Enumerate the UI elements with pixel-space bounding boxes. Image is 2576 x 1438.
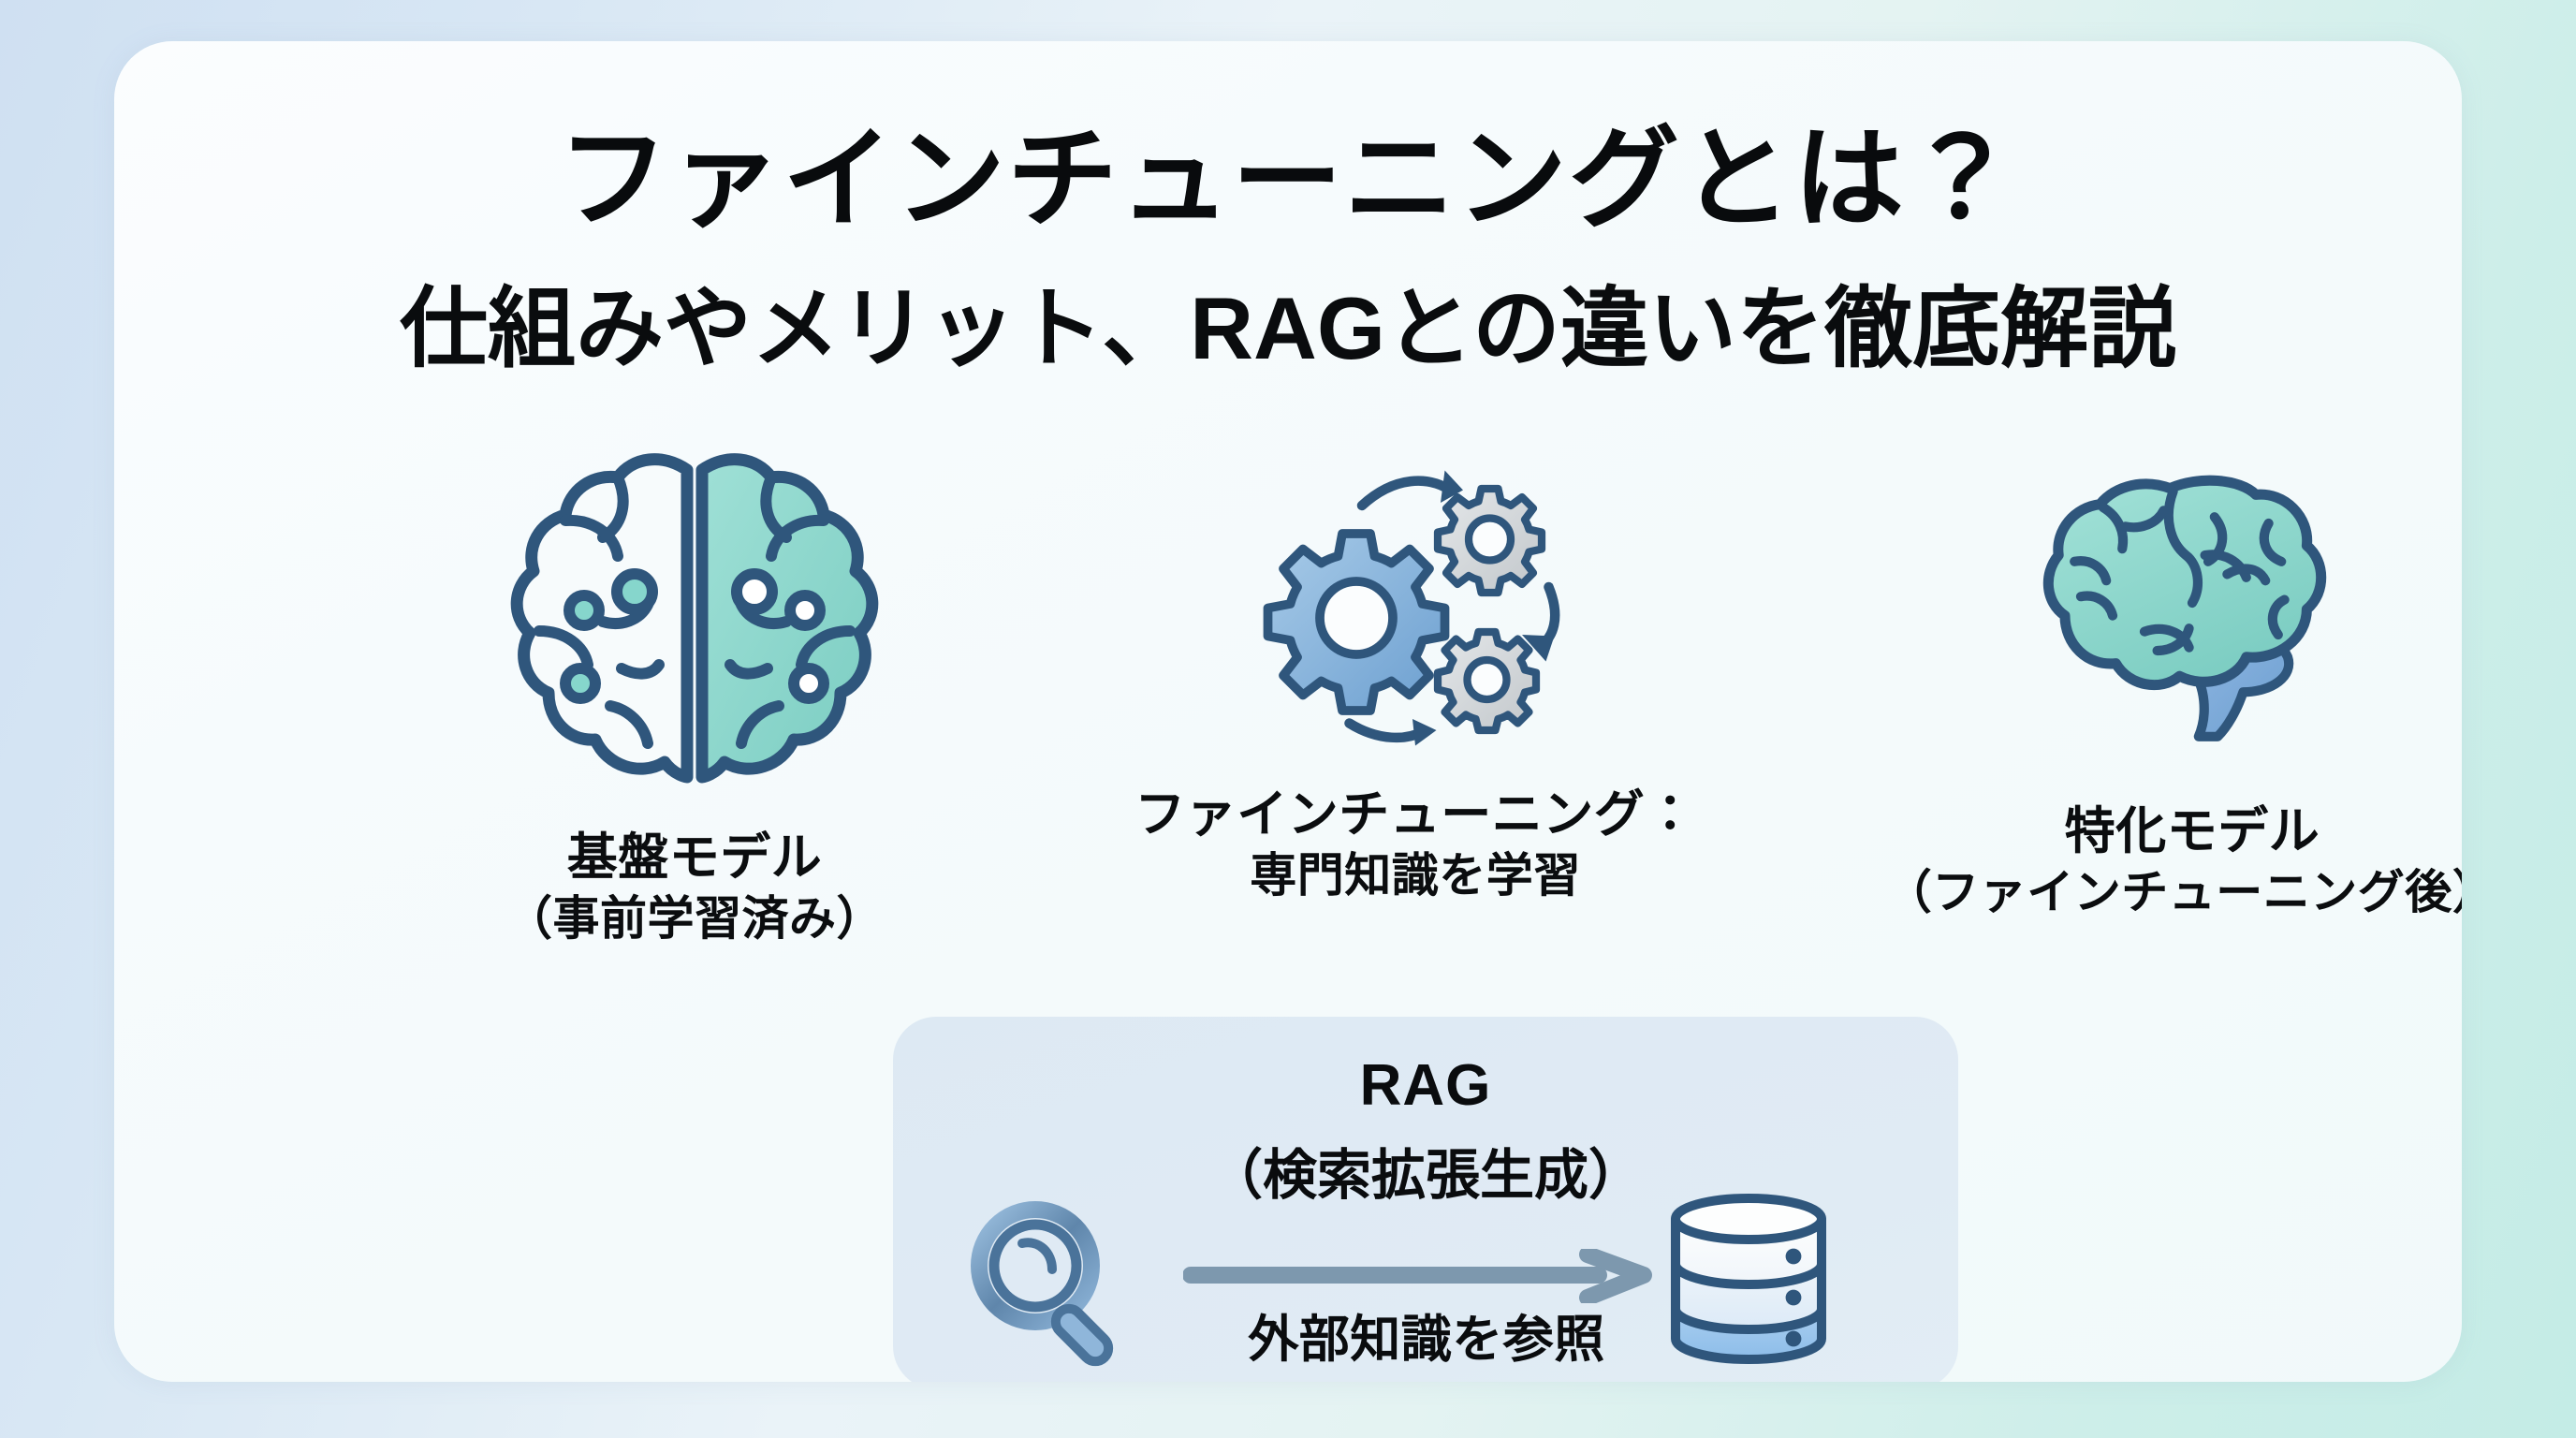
flow-node-base-model: 基盤モデル （事前学習済み） [395,444,994,947]
page-subtitle: 仕組みやメリット、RAGとの違いを徹底解説 [114,283,2462,375]
flow-node-label: ファインチューニング： [1060,784,1771,846]
flow-node-sublabel: 専門知識を学習 [1060,846,1771,904]
flow-node-sublabel: （事前学習済み） [395,889,994,947]
flow-node-label: 特化モデル [1808,800,2462,863]
gears-icon [1060,466,1771,752]
process-flow: 基盤モデル （事前学習済み） [114,444,2462,968]
split-brain-icon [395,444,994,804]
magnifier-icon [960,1195,1148,1382]
content-card: ファインチューニングとは？ 仕組みやメリット、RAGとの違いを徹底解説 [114,41,2462,1382]
rag-title: RAG [893,1052,1958,1119]
flow-node-fine-tuning: ファインチューニング： 専門知識を学習 [1060,466,1771,904]
flow-node-specialized-model: 特化モデル （ファインチューニング後） [1808,462,2462,921]
rag-panel: RAG （検索拡張生成） [893,1017,1958,1382]
page-title: ファインチューニングとは？ [114,124,2462,236]
flow-node-sublabel: （ファインチューニング後） [1808,863,2462,921]
flow-node-label: 基盤モデル [395,827,994,889]
rag-caption: 外部知識を参照 [1136,1298,1717,1372]
brain-profile-icon [1808,462,2462,748]
